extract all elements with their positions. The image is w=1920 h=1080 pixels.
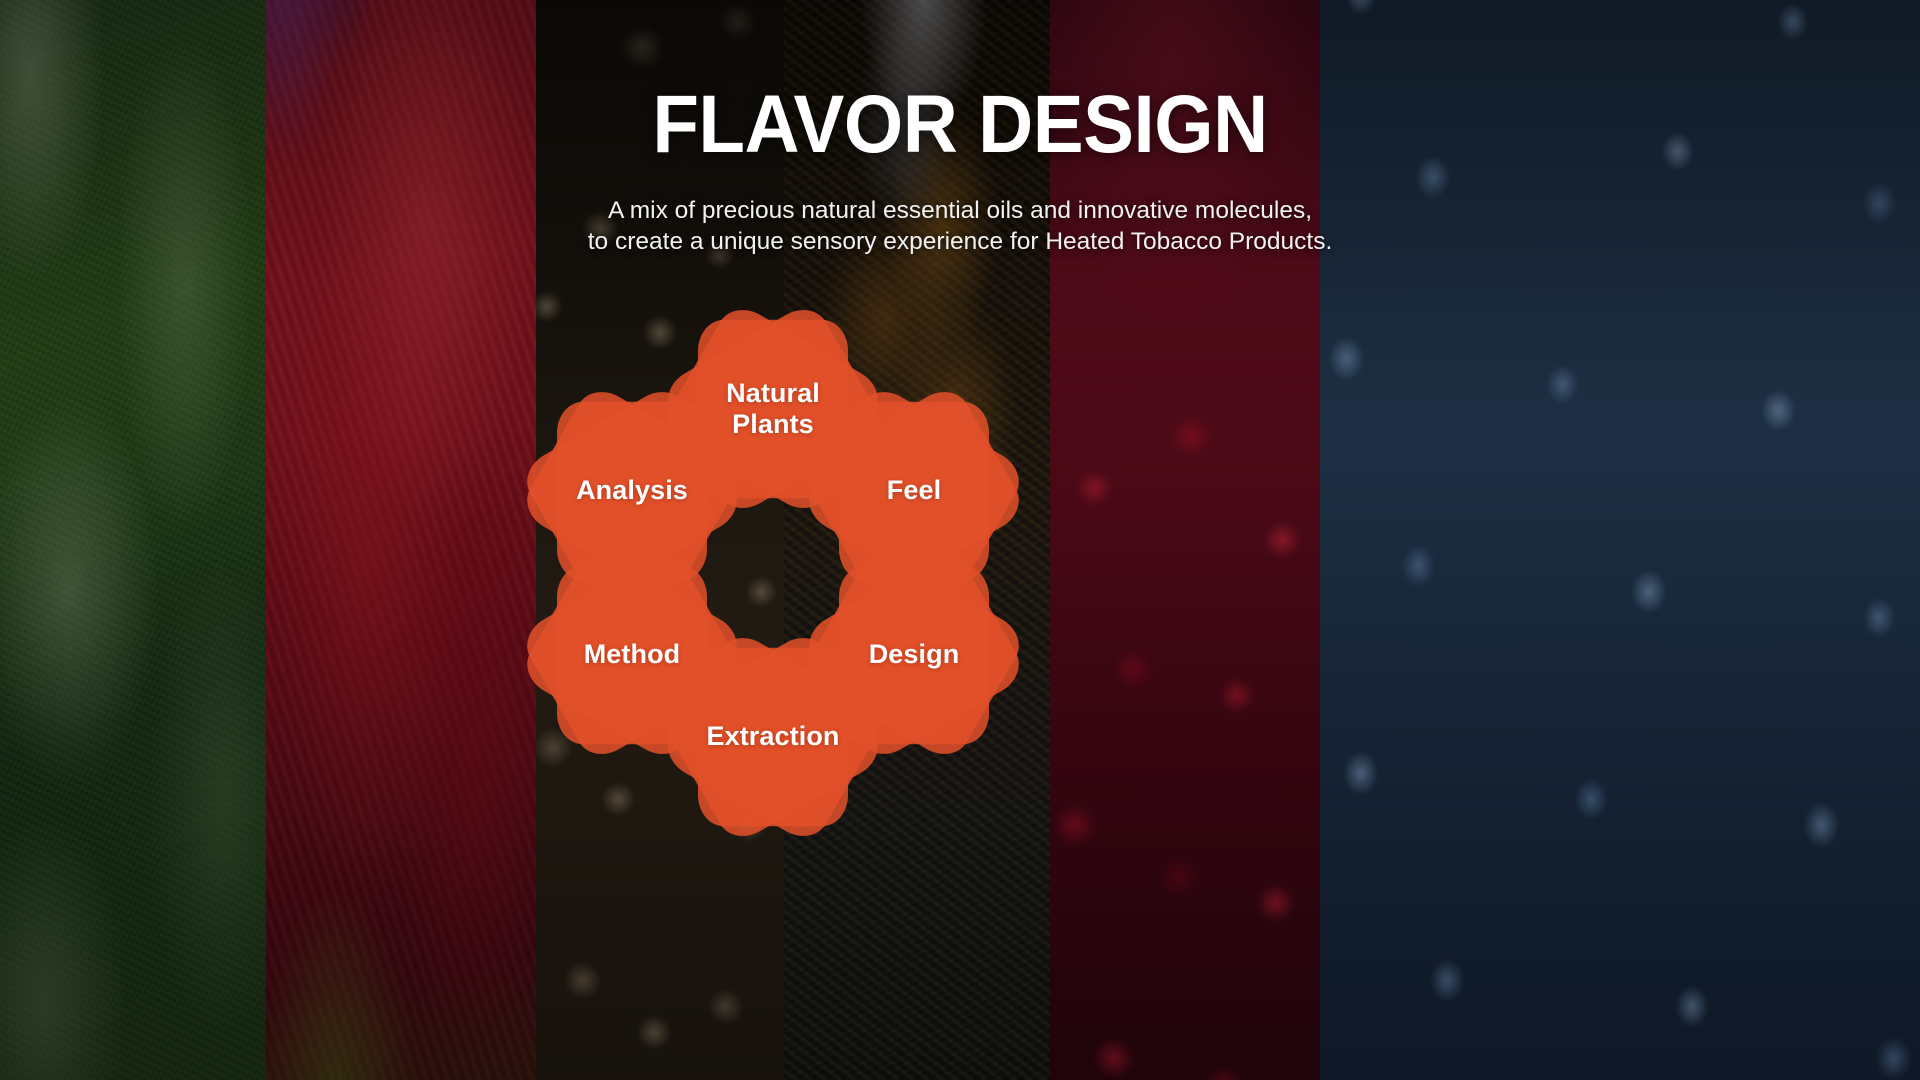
hex-node-label-line-1: Natural [726,378,820,409]
hex-node-label: Extraction [698,721,847,752]
hex-node-label: Natural Plants [718,378,828,441]
subtitle-line-1: A mix of precious natural essential oils… [0,196,1920,227]
slide-canvas: FLAVOR DESIGN A mix of precious natural … [0,0,1920,1080]
hex-node-label-line-2: Plants [726,409,820,440]
process-ring-diagram: Natural Plants Feel Design Extr [543,306,1023,758]
page-subtitle: A mix of precious natural essential oils… [0,196,1920,258]
hex-node-label: Analysis [568,475,696,506]
hex-node-label: Feel [879,475,949,506]
hex-node-label: Method [576,639,689,670]
hex-node-analysis[interactable]: Analysis [543,388,721,594]
hex-node-label: Design [861,639,968,670]
slide-content: FLAVOR DESIGN A mix of precious natural … [0,0,1920,1080]
subtitle-line-2: to create a unique sensory experience fo… [0,227,1920,258]
page-title: FLAVOR DESIGN [67,84,1853,166]
